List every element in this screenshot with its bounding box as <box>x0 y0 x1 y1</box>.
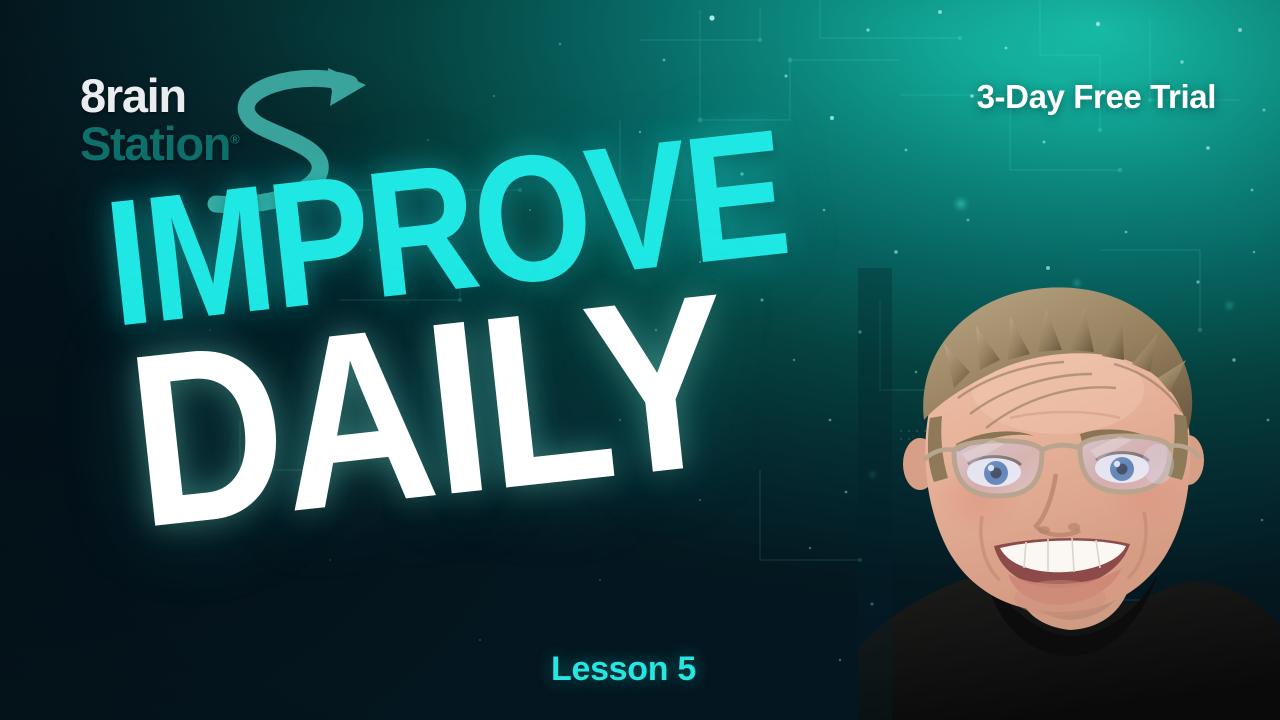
logo-line-2: Station® <box>80 120 240 167</box>
presenter-illustration <box>858 268 1280 720</box>
logo-line-2-text: Station <box>80 117 230 170</box>
logo-line-1: 8rain <box>80 72 186 119</box>
presenter-portrait <box>858 268 1280 720</box>
brand-logo[interactable]: 8rain Station® <box>80 72 380 217</box>
registered-trademark-mark: ® <box>230 131 240 146</box>
lesson-label: Lesson 5 <box>551 650 696 689</box>
trial-badge[interactable]: 3-Day Free Trial <box>977 78 1216 116</box>
video-thumbnail: 8rain Station® 3-Day Free Trial IMPROVE … <box>0 0 1280 720</box>
